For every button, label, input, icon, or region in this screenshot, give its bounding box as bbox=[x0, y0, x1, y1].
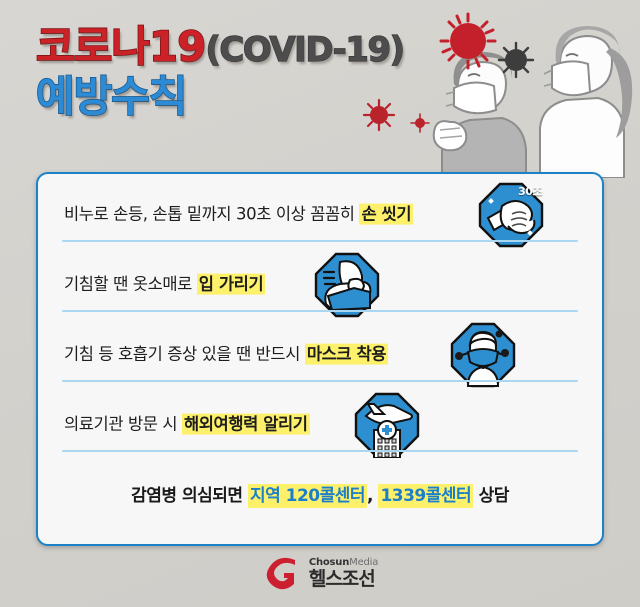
rule-text-1: 비누로 손등, 손톱 밑까지 30초 이상 꼼꼼히 손 씻기 bbox=[64, 201, 413, 225]
title-covid19: (COVID-19) bbox=[205, 30, 403, 70]
rule-text-4: 의료기관 방문 시 해외여행력 알리기 bbox=[64, 411, 310, 435]
row-divider bbox=[62, 380, 578, 382]
logo-en-light: Media bbox=[349, 557, 378, 568]
list-item: 기침 등 호흡기 증상 있을 땐 반드시 마스크 착용 bbox=[38, 320, 602, 390]
callout-comma: , bbox=[367, 486, 378, 506]
rule-text-2-plain: 기침할 땐 옷소매로 bbox=[64, 275, 197, 294]
logo-kr-text: 헬스조선 bbox=[309, 570, 378, 589]
title-line-1: 코로나19(COVID-19) bbox=[36, 26, 456, 69]
logo-en-bold: Chosun bbox=[309, 557, 349, 568]
callout-suffix: 상담 bbox=[473, 486, 509, 506]
title-prevention-rules: 예방수칙 bbox=[36, 72, 187, 121]
rule-text-4-highlight: 해외여행력 알리기 bbox=[182, 414, 310, 435]
rules-list: 비누로 손등, 손톱 밑까지 30초 이상 꼼꼼히 손 씻기 bbox=[38, 174, 602, 460]
rule-text-1-highlight: 손 씻기 bbox=[359, 204, 413, 225]
poster-title: 코로나19(COVID-19) 예방수칙 bbox=[36, 26, 456, 119]
rule-text-3-highlight: 마스크 착용 bbox=[305, 344, 388, 365]
title-line-2: 예방수칙 bbox=[36, 76, 456, 119]
title-korona19: 코로나19 bbox=[36, 22, 205, 71]
list-item: 비누로 손등, 손톱 밑까지 30초 이상 꼼꼼히 손 씻기 bbox=[38, 180, 602, 250]
logo-en-text: ChosunMedia bbox=[309, 558, 378, 568]
virus-dark-small bbox=[499, 43, 533, 77]
rule-text-1-plain: 비누로 손등, 손톱 밑까지 30초 이상 꼼꼼히 bbox=[64, 205, 359, 224]
face-mask-icon bbox=[450, 322, 516, 388]
hand-washing-icon: 30초 bbox=[478, 182, 544, 248]
hospital-travel-icon bbox=[354, 392, 420, 458]
row-divider bbox=[62, 450, 578, 452]
callout-center-120: 지역 120콜센터 bbox=[248, 484, 367, 508]
chosun-media-logo: ChosunMedia 헬스조선 bbox=[0, 551, 640, 595]
rule-text-2-highlight: 입 가리기 bbox=[197, 274, 265, 295]
badge-30sec: 30초 bbox=[518, 183, 542, 199]
logo-text-block: ChosunMedia 헬스조선 bbox=[309, 558, 378, 589]
rule-text-3-plain: 기침 등 호흡기 증상 있을 땐 반드시 bbox=[64, 345, 305, 364]
poster-canvas: 코로나19(COVID-19) 예방수칙 비누로 손등, 손톱 밑까지 30초 … bbox=[0, 0, 640, 607]
rule-text-4-plain: 의료기관 방문 시 bbox=[64, 415, 182, 434]
list-item: 의료기관 방문 시 해외여행력 알리기 bbox=[38, 390, 602, 460]
cough-sleeve-icon bbox=[314, 252, 380, 318]
callout-line: 감염병 의심되면 지역 120콜센터, 1339콜센터 상담 bbox=[38, 481, 602, 506]
rule-text-2: 기침할 땐 옷소매로 입 가리기 bbox=[64, 271, 265, 295]
callout-prefix: 감염병 의심되면 bbox=[131, 486, 248, 506]
callout-center-1339: 1339콜센터 bbox=[378, 484, 473, 508]
rule-text-3: 기침 등 호흡기 증상 있을 땐 반드시 마스크 착용 bbox=[64, 341, 388, 365]
list-item: 기침할 땐 옷소매로 입 가리기 bbox=[38, 250, 602, 320]
logo-mark-icon bbox=[262, 556, 300, 590]
row-divider bbox=[62, 240, 578, 242]
rules-panel: 비누로 손등, 손톱 밑까지 30초 이상 꼼꼼히 손 씻기 bbox=[36, 172, 604, 546]
row-divider bbox=[62, 310, 578, 312]
